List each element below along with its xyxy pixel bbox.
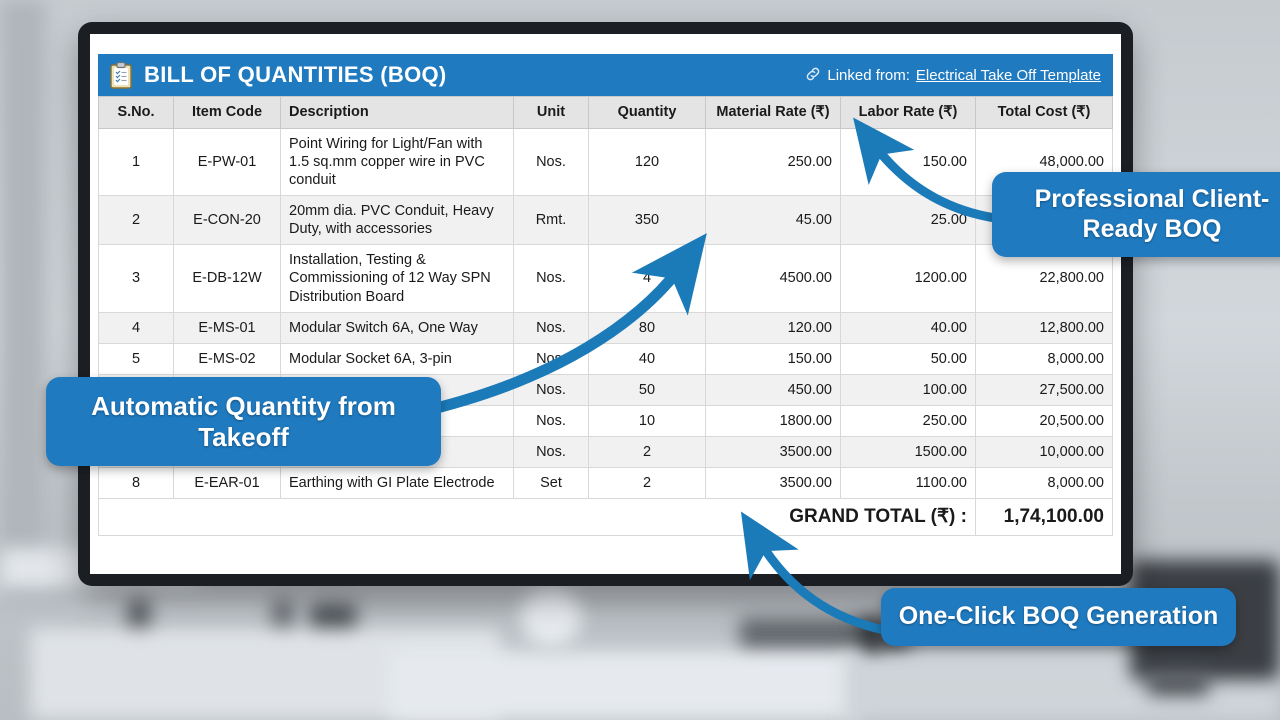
callout-automatic-quantity: Automatic Quantity from Takeoff (46, 377, 441, 466)
cell-total-cost: 8,000.00 (976, 343, 1113, 374)
column-header-sno[interactable]: S.No. (99, 97, 174, 129)
cell-quantity: 4 (589, 245, 706, 312)
cell-itemcode: E-MS-02 (174, 343, 281, 374)
background-second-monitor-stand (1148, 672, 1208, 696)
cell-itemcode: E-EAR-01 (174, 468, 281, 499)
cell-labor-rate: 250.00 (841, 406, 976, 437)
cell-itemcode: E-DB-12W (174, 245, 281, 312)
cell-itemcode: E-PW-01 (174, 128, 281, 195)
cell-quantity: 2 (589, 468, 706, 499)
column-header-total-cost[interactable]: Total Cost (₹) (976, 97, 1113, 129)
cell-quantity: 10 (589, 406, 706, 437)
background-desk-2 (390, 650, 860, 720)
cell-material-rate: 3500.00 (706, 437, 841, 468)
boq-header-bar: BILL OF QUANTITIES (BOQ) Linked from: El… (98, 54, 1113, 96)
table-row[interactable]: 8E-EAR-01Earthing with GI Plate Electrod… (99, 468, 1113, 499)
cell-labor-rate: 50.00 (841, 343, 976, 374)
clipboard-icon (110, 62, 132, 89)
cell-description: Modular Switch 6A, One Way (281, 312, 514, 343)
column-header-unit[interactable]: Unit (514, 97, 589, 129)
cell-total-cost: 12,800.00 (976, 312, 1113, 343)
cell-labor-rate: 1500.00 (841, 437, 976, 468)
table-header-row: S.No. Item Code Description Unit Quantit… (99, 97, 1113, 129)
cell-unit: Nos. (514, 312, 589, 343)
linked-template-link[interactable]: Electrical Take Off Template (916, 67, 1101, 84)
monitor-screen: CEI Estimate CONSTRUCTION INDIA (90, 34, 1121, 574)
cell-unit: Nos. (514, 343, 589, 374)
grand-total-label: GRAND TOTAL (₹) : (99, 499, 976, 536)
cell-unit: Rmt. (514, 196, 589, 245)
linked-from: Linked from: Electrical Take Off Templat… (805, 66, 1101, 84)
column-header-material-rate[interactable]: Material Rate (₹) (706, 97, 841, 129)
cell-quantity: 350 (589, 196, 706, 245)
cell-labor-rate: 150.00 (841, 128, 976, 195)
cell-total-cost: 8,000.00 (976, 468, 1113, 499)
callout-one-click-boq: One-Click BOQ Generation (881, 588, 1236, 646)
cell-quantity: 120 (589, 128, 706, 195)
cell-labor-rate: 25.00 (841, 196, 976, 245)
cell-quantity: 80 (589, 312, 706, 343)
cell-quantity: 2 (589, 437, 706, 468)
column-header-itemcode[interactable]: Item Code (174, 97, 281, 129)
cell-labor-rate: 1200.00 (841, 245, 976, 312)
cell-labor-rate: 1100.00 (841, 468, 976, 499)
boq-table: S.No. Item Code Description Unit Quantit… (98, 96, 1113, 536)
cell-total-cost: 20,500.00 (976, 406, 1113, 437)
cell-quantity: 50 (589, 374, 706, 405)
cell-description: Modular Socket 6A, 3-pin (281, 343, 514, 374)
cell-description: Earthing with GI Plate Electrode (281, 468, 514, 499)
table-row[interactable]: 5E-MS-02Modular Socket 6A, 3-pinNos.4015… (99, 343, 1113, 374)
cell-quantity: 40 (589, 343, 706, 374)
cell-unit: Nos. (514, 245, 589, 312)
link-icon (805, 66, 821, 84)
table-row[interactable]: 1E-PW-01Point Wiring for Light/Fan with … (99, 128, 1113, 195)
table-row[interactable]: 4E-MS-01Modular Switch 6A, One WayNos.80… (99, 312, 1113, 343)
cell-description: 20mm dia. PVC Conduit, Heavy Duty, with … (281, 196, 514, 245)
cell-sno: 5 (99, 343, 174, 374)
background-circle (520, 586, 582, 648)
cell-sno: 4 (99, 312, 174, 343)
cell-sno: 8 (99, 468, 174, 499)
cell-total-cost: 10,000.00 (976, 437, 1113, 468)
cell-unit: Nos. (514, 437, 589, 468)
cell-unit: Set (514, 468, 589, 499)
table-row[interactable]: 3E-DB-12WInstallation, Testing & Commiss… (99, 245, 1113, 312)
cell-material-rate: 4500.00 (706, 245, 841, 312)
callout-professional-boq: Professional Client-Ready BOQ (992, 172, 1280, 257)
cell-material-rate: 120.00 (706, 312, 841, 343)
background-left-column (0, 0, 46, 560)
cell-description: Installation, Testing & Commissioning of… (281, 245, 514, 312)
cell-material-rate: 1800.00 (706, 406, 841, 437)
page-title: BILL OF QUANTITIES (BOQ) (144, 62, 447, 88)
cell-unit: Nos. (514, 406, 589, 437)
cell-material-rate: 450.00 (706, 374, 841, 405)
table-row[interactable]: 2E-CON-2020mm dia. PVC Conduit, Heavy Du… (99, 196, 1113, 245)
cell-material-rate: 45.00 (706, 196, 841, 245)
cell-unit: Nos. (514, 128, 589, 195)
cell-itemcode: E-CON-20 (174, 196, 281, 245)
cell-material-rate: 150.00 (706, 343, 841, 374)
grand-total-row: GRAND TOTAL (₹) : 1,74,100.00 (99, 499, 1113, 536)
column-header-quantity[interactable]: Quantity (589, 97, 706, 129)
cell-labor-rate: 100.00 (841, 374, 976, 405)
cell-total-cost: 27,500.00 (976, 374, 1113, 405)
linked-from-label: Linked from: (827, 67, 910, 84)
cell-material-rate: 250.00 (706, 128, 841, 195)
cell-material-rate: 3500.00 (706, 468, 841, 499)
cell-sno: 3 (99, 245, 174, 312)
grand-total-value: 1,74,100.00 (976, 499, 1113, 536)
column-header-labor-rate[interactable]: Labor Rate (₹) (841, 97, 976, 129)
cell-sno: 2 (99, 196, 174, 245)
cell-sno: 1 (99, 128, 174, 195)
cell-labor-rate: 40.00 (841, 312, 976, 343)
column-header-description[interactable]: Description (281, 97, 514, 129)
cell-unit: Nos. (514, 374, 589, 405)
cell-description: Point Wiring for Light/Fan with 1.5 sq.m… (281, 128, 514, 195)
monitor-bezel: CEI Estimate CONSTRUCTION INDIA (78, 22, 1133, 586)
cell-itemcode: E-MS-01 (174, 312, 281, 343)
